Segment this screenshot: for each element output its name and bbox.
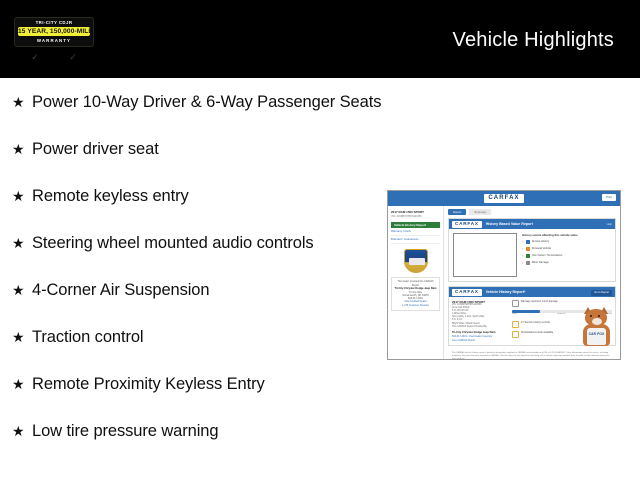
history-check-row: Damage reported: minor damage <box>512 300 612 307</box>
meter-label-minor: Minor <box>512 313 517 316</box>
carfax-value-panel: CARFAX History Based Value Report Help H… <box>448 218 616 282</box>
carfax-sidebar-vin: VIN: 1C6RR7MT6HS123456 <box>391 215 440 218</box>
shield-inner <box>409 258 425 265</box>
list-item-label: Power driver seat <box>32 138 159 160</box>
carfax-value-panel-header: CARFAX History Based Value Report Help <box>449 219 615 229</box>
list-item-label: Traction control <box>32 326 144 348</box>
carfax-tabs: Report Summary <box>448 209 616 215</box>
history-check-label: 40 Detailed records available <box>521 331 553 334</box>
star-icon: ★ <box>10 91 32 113</box>
star-icon: ★ <box>10 420 32 442</box>
star-icon: ★ <box>10 138 32 160</box>
arrow-up-icon: ↑ <box>522 254 524 258</box>
carfax-sidebar-link-branded[interactable]: Branded / Guarantees <box>391 236 440 244</box>
carfax-history-vehicle-info: 2017 RAM 1500 SPORT VIN: 1C6RR7MT6HS1234… <box>452 300 508 342</box>
dealer-shield-icon <box>401 249 431 275</box>
content-area: ★ Power 10-Way Driver & 6-Way Passenger … <box>0 78 640 480</box>
list-item: ★ Remote Proximity Keyless Entry <box>10 373 382 395</box>
list-item: ★ 4-Corner Air Suspension <box>10 279 382 301</box>
check-icon-2: ✓ <box>69 52 77 63</box>
history-dealer-link-2[interactable]: Free CARFAX Report <box>452 339 508 343</box>
list-item: ★ Power 10-Way Driver & 6-Way Passenger … <box>10 91 382 113</box>
page-title: Vehicle Highlights <box>453 29 614 51</box>
dealer-reviews-link[interactable]: 1,276 Customer Reviews <box>394 304 437 308</box>
carfax-body: 2017 RAM 1500 SPORT VIN: 1C6RR7MT6HS1234… <box>388 206 620 359</box>
carfax-sidebar-vehicle-title: 2017 RAM 1500 SPORT <box>391 210 440 214</box>
star-icon: ★ <box>10 232 32 254</box>
carfax-value-panel-title: History Based Value Report <box>486 222 533 227</box>
value-events-title: History events affecting this vehicle va… <box>522 233 578 237</box>
meter-label-moderate: Moderate <box>557 313 565 316</box>
service-records-icon <box>512 321 519 328</box>
list-item: ★ Low tire pressure warning <box>10 420 382 442</box>
list-item: ★ Power driver seat <box>10 138 382 160</box>
list-item-label: Low tire pressure warning <box>32 420 218 442</box>
history-check-label: Damage reported: minor damage <box>521 300 558 303</box>
minor-damage-icon <box>526 261 530 265</box>
one-owner-icon <box>526 254 530 258</box>
value-event-label: One Owner / No Accidents <box>532 254 563 258</box>
list-item-label: Power 10-Way Driver & 6-Way Passenger Se… <box>32 91 381 113</box>
history-vehicle-details: VIN: 1C6RR7MT6HS123456 Crew Cab Pickup 5… <box>452 304 508 329</box>
fox-shirt-text: CAR FOX <box>587 333 606 337</box>
value-event-row: ↓ Minor Damage <box>522 261 578 265</box>
tab-report[interactable]: Report <box>448 209 466 215</box>
value-event-row: ↑ Service History <box>522 240 578 244</box>
personal-vehicle-icon <box>526 247 530 251</box>
carfax-fox-mascot-icon: CAR FOX <box>581 307 613 347</box>
carfax-value-panel-body: History events affecting this vehicle va… <box>449 229 615 281</box>
list-item: ★ Remote keyless entry <box>10 185 382 207</box>
carfax-history-panel: CARFAX Vehicle History Report* Go to Rep… <box>448 286 616 346</box>
carfax-value-panel-help-link[interactable]: Help <box>607 222 612 227</box>
service-history-icon <box>526 240 530 244</box>
list-item-label: 4-Corner Air Suspension <box>32 279 209 301</box>
carfax-topbar: CARFAX Print <box>388 191 620 206</box>
warranty-badge-dealer: TRI-CITY CDJR <box>17 20 91 26</box>
list-item: ★ Traction control <box>10 326 382 348</box>
carfax-logo: CARFAX <box>452 221 482 228</box>
carfax-logo: CARFAX <box>484 194 523 203</box>
list-item: ★ Steering wheel mounted audio controls <box>10 232 382 254</box>
warranty-badge-term: 15 YEAR, 150,000-MILE <box>18 27 90 36</box>
list-item-label: Steering wheel mounted audio controls <box>32 232 314 254</box>
history-detail: This CARFAX Report Provided By <box>452 326 508 329</box>
carfax-sidebar-link-warranty[interactable]: Warranty Check <box>391 228 440 236</box>
arrow-up-icon: ↑ <box>522 247 524 251</box>
check-icon-1: ✓ <box>31 52 39 63</box>
shield-shape <box>404 249 428 273</box>
carfax-sidebar: 2017 RAM 1500 SPORT VIN: 1C6RR7MT6HS1234… <box>388 206 444 359</box>
page-header: TRI-CITY CDJR 15 YEAR, 150,000-MILE WARR… <box>0 0 640 78</box>
warranty-badge-word: WARRANTY <box>17 37 91 44</box>
value-event-label: Minor Damage <box>532 261 549 265</box>
vehicle-highlights-list: ★ Power 10-Way Driver & 6-Way Passenger … <box>10 91 382 467</box>
value-event-row: ↑ One Owner / No Accidents <box>522 254 578 258</box>
carfax-history-panel-body: 2017 RAM 1500 SPORT VIN: 1C6RR7MT6HS1234… <box>449 297 615 345</box>
star-icon: ★ <box>10 279 32 301</box>
fox-shirt: CAR FOX <box>587 328 606 345</box>
carfax-main: Report Summary CARFAX History Based Valu… <box>444 206 620 359</box>
value-event-row: ↑ Personal Vehicle <box>522 247 578 251</box>
go-to-report-button[interactable]: Go to Report <box>591 290 612 296</box>
warranty-badge: TRI-CITY CDJR 15 YEAR, 150,000-MILE WARR… <box>14 17 94 47</box>
tab-summary[interactable]: Summary <box>469 209 491 215</box>
arrow-down-icon: ↓ <box>522 261 524 265</box>
detailed-records-icon <box>512 331 519 338</box>
carfax-history-panel-title: Vehicle History Report* <box>486 290 526 295</box>
value-event-label: Service History <box>532 240 549 244</box>
star-icon: ★ <box>10 185 32 207</box>
carfax-logo: CARFAX <box>452 289 482 296</box>
warranty-badge-checkmarks: ✓ ✓ <box>16 50 92 64</box>
dealer-note: This dealer provided this CARFAX Report <box>394 280 437 287</box>
star-icon: ★ <box>10 373 32 395</box>
arrow-up-icon: ↑ <box>522 240 524 244</box>
carfax-value-events: History events affecting this vehicle va… <box>522 233 578 277</box>
value-chart-placeholder <box>453 233 517 277</box>
damage-meter-fill <box>512 310 540 313</box>
carfax-history-panel-header: CARFAX Vehicle History Report* Go to Rep… <box>449 287 615 297</box>
star-icon: ★ <box>10 326 32 348</box>
carfax-dealer-card: This dealer provided this CARFAX Report … <box>391 277 440 310</box>
value-event-label: Personal Vehicle <box>532 247 551 251</box>
list-item-label: Remote keyless entry <box>32 185 189 207</box>
list-item-label: Remote Proximity Keyless Entry <box>32 373 265 395</box>
carfax-report-screenshot: CARFAX Print 2017 RAM 1500 SPORT VIN: 1C… <box>387 190 621 360</box>
damage-icon <box>512 300 519 307</box>
carfax-print-button[interactable]: Print <box>602 194 616 201</box>
history-check-label: 17 Service history records <box>521 321 550 324</box>
carfax-footer-disclaimer: The CARFAX vehicle history report is bas… <box>448 350 616 360</box>
